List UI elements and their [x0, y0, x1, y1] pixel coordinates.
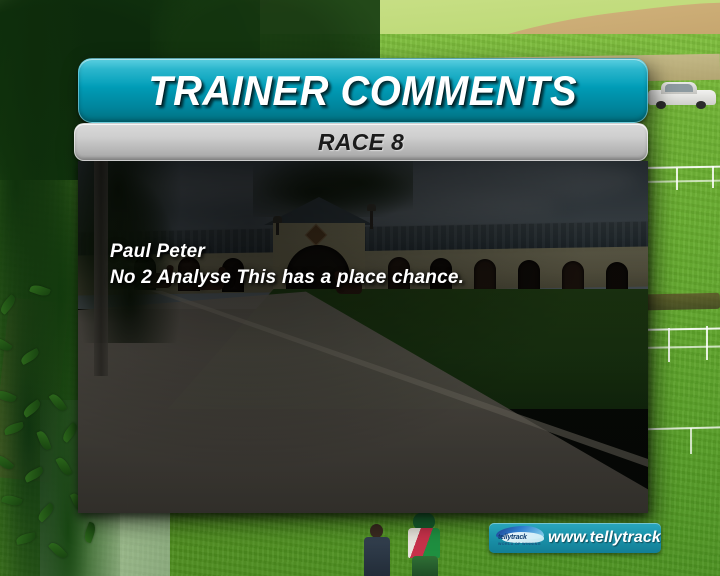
rail-post	[676, 168, 678, 190]
panel-body: Paul Peter No 2 Analyse This has a place…	[78, 161, 648, 513]
tellytrack-watermark-banner[interactable]: tellytrack WORLD OF WINNING www.tellytra…	[489, 523, 661, 553]
tellytrack-logo-icon: tellytrack WORLD OF WINNING	[492, 525, 546, 551]
jockey-silks	[408, 528, 440, 558]
yard-lamp	[276, 221, 279, 235]
parked-car	[648, 82, 716, 108]
jockey-legs	[412, 556, 438, 576]
car-wheel	[656, 101, 666, 109]
person-handler	[362, 524, 392, 576]
race-subtitle-bar: RACE 8	[74, 123, 648, 161]
rail-post	[706, 326, 708, 360]
car-wheel	[696, 101, 706, 109]
tellytrack-url: www.tellytrack.com	[548, 529, 661, 547]
person-head	[370, 524, 383, 538]
logo-tagline: WORLD OF WINNING	[498, 542, 544, 547]
rail-post	[668, 328, 670, 362]
race-number-label: RACE 8	[318, 129, 404, 156]
photo-pole	[94, 161, 108, 376]
rail-post	[690, 428, 692, 454]
logo-wordmark: tellytrack	[498, 534, 543, 542]
yard-lamp	[370, 209, 373, 229]
trainer-comment-text: No 2 Analyse This has a place chance.	[110, 265, 464, 291]
title-bar: TRAINER COMMENTS	[78, 58, 648, 123]
stables-photo	[78, 161, 648, 513]
rail-post	[712, 166, 714, 188]
page-title: TRAINER COMMENTS	[149, 67, 578, 115]
person-body	[364, 537, 390, 576]
stable-door	[474, 259, 496, 293]
trainer-name: Paul Peter	[110, 239, 464, 265]
stable-door	[518, 260, 540, 294]
trainer-comments-panel: TRAINER COMMENTS RACE 8	[74, 58, 648, 513]
trainer-comment-block: Paul Peter No 2 Analyse This has a place…	[110, 239, 464, 291]
car-window	[665, 84, 693, 92]
person-jockey	[404, 512, 446, 576]
